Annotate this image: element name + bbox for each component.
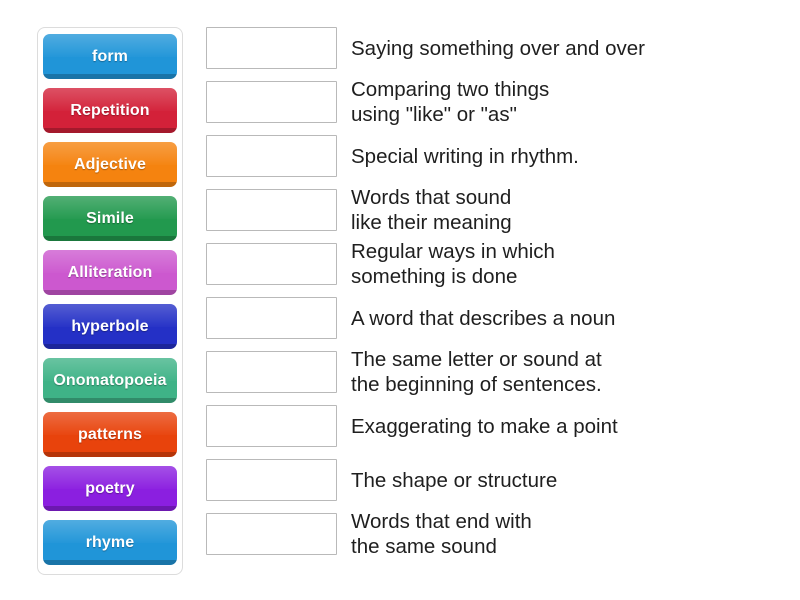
match-up-activity: formRepetitionAdjectiveSimileAlliteratio…: [0, 0, 800, 600]
answer-tile-label: Repetition: [70, 102, 149, 120]
answer-dropbox[interactable]: [206, 297, 337, 339]
definition-row: Words that end with the same sound: [206, 513, 786, 555]
definition-row: Saying something over and over: [206, 27, 786, 69]
answer-tile[interactable]: form: [43, 34, 177, 79]
answer-dropbox[interactable]: [206, 513, 337, 555]
answer-tile[interactable]: poetry: [43, 466, 177, 511]
answer-dropbox[interactable]: [206, 351, 337, 393]
definition-row: Exaggerating to make a point: [206, 405, 786, 447]
answer-tile-label: rhyme: [86, 534, 135, 552]
definition-row: Comparing two things using "like" or "as…: [206, 81, 786, 123]
answer-tile-label: hyperbole: [71, 318, 148, 336]
answer-dropbox[interactable]: [206, 243, 337, 285]
definition-text: The shape or structure: [351, 468, 786, 493]
answer-dropbox[interactable]: [206, 135, 337, 177]
answer-tile[interactable]: Simile: [43, 196, 177, 241]
answer-tile[interactable]: hyperbole: [43, 304, 177, 349]
definition-text: Special writing in rhythm.: [351, 144, 786, 169]
answer-tile[interactable]: rhyme: [43, 520, 177, 565]
answer-tile-label: patterns: [78, 426, 142, 444]
definition-rows-list: Saying something over and overComparing …: [206, 27, 786, 567]
definition-row: The same letter or sound at the beginnin…: [206, 351, 786, 393]
definition-row: The shape or structure: [206, 459, 786, 501]
answer-tile[interactable]: Alliteration: [43, 250, 177, 295]
answer-tile-label: form: [92, 48, 128, 66]
definition-text: Exaggerating to make a point: [351, 414, 786, 439]
definition-text: A word that describes a noun: [351, 306, 786, 331]
definition-text: Words that sound like their meaning: [351, 185, 786, 235]
definition-text: Comparing two things using "like" or "as…: [351, 77, 786, 127]
answer-tile-label: poetry: [85, 480, 135, 498]
answer-dropbox[interactable]: [206, 27, 337, 69]
answer-tile-label: Simile: [86, 210, 134, 228]
definition-text: Saying something over and over: [351, 36, 786, 61]
answer-dropbox[interactable]: [206, 81, 337, 123]
definition-row: Special writing in rhythm.: [206, 135, 786, 177]
answer-tile[interactable]: Repetition: [43, 88, 177, 133]
answer-dropbox[interactable]: [206, 405, 337, 447]
definition-row: Words that sound like their meaning: [206, 189, 786, 231]
definition-row: A word that describes a noun: [206, 297, 786, 339]
definition-text: Words that end with the same sound: [351, 509, 786, 559]
definition-row: Regular ways in which something is done: [206, 243, 786, 285]
answer-tile[interactable]: Adjective: [43, 142, 177, 187]
definition-text: The same letter or sound at the beginnin…: [351, 347, 786, 397]
answer-dropbox[interactable]: [206, 459, 337, 501]
answer-tile[interactable]: Onomatopoeia: [43, 358, 177, 403]
answer-dropbox[interactable]: [206, 189, 337, 231]
answer-tile[interactable]: patterns: [43, 412, 177, 457]
answer-tiles-panel: formRepetitionAdjectiveSimileAlliteratio…: [37, 27, 183, 575]
answer-tile-label: Alliteration: [68, 264, 153, 282]
definition-text: Regular ways in which something is done: [351, 239, 786, 289]
answer-tile-label: Adjective: [74, 156, 146, 174]
answer-tile-label: Onomatopoeia: [53, 372, 166, 390]
